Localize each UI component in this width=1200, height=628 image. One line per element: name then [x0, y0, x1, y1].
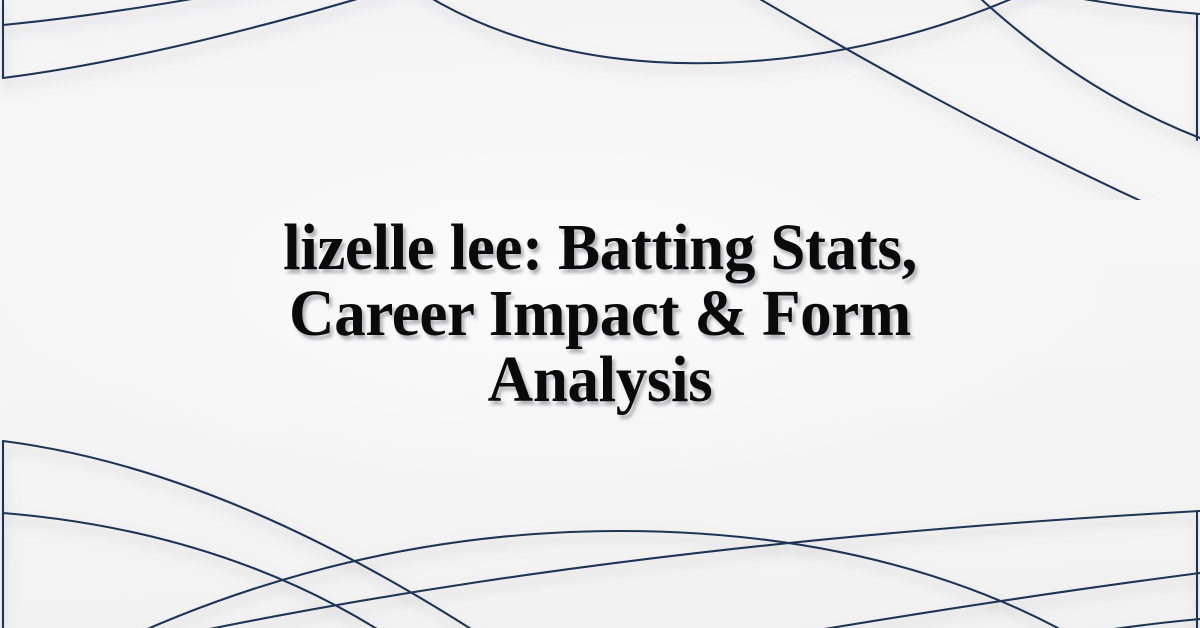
social-card: lizelle lee: Batting Stats, Career Impac…: [0, 0, 1200, 628]
title-block: lizelle lee: Batting Stats, Career Impac…: [0, 0, 1200, 628]
page-title: lizelle lee: Batting Stats, Career Impac…: [218, 215, 982, 413]
